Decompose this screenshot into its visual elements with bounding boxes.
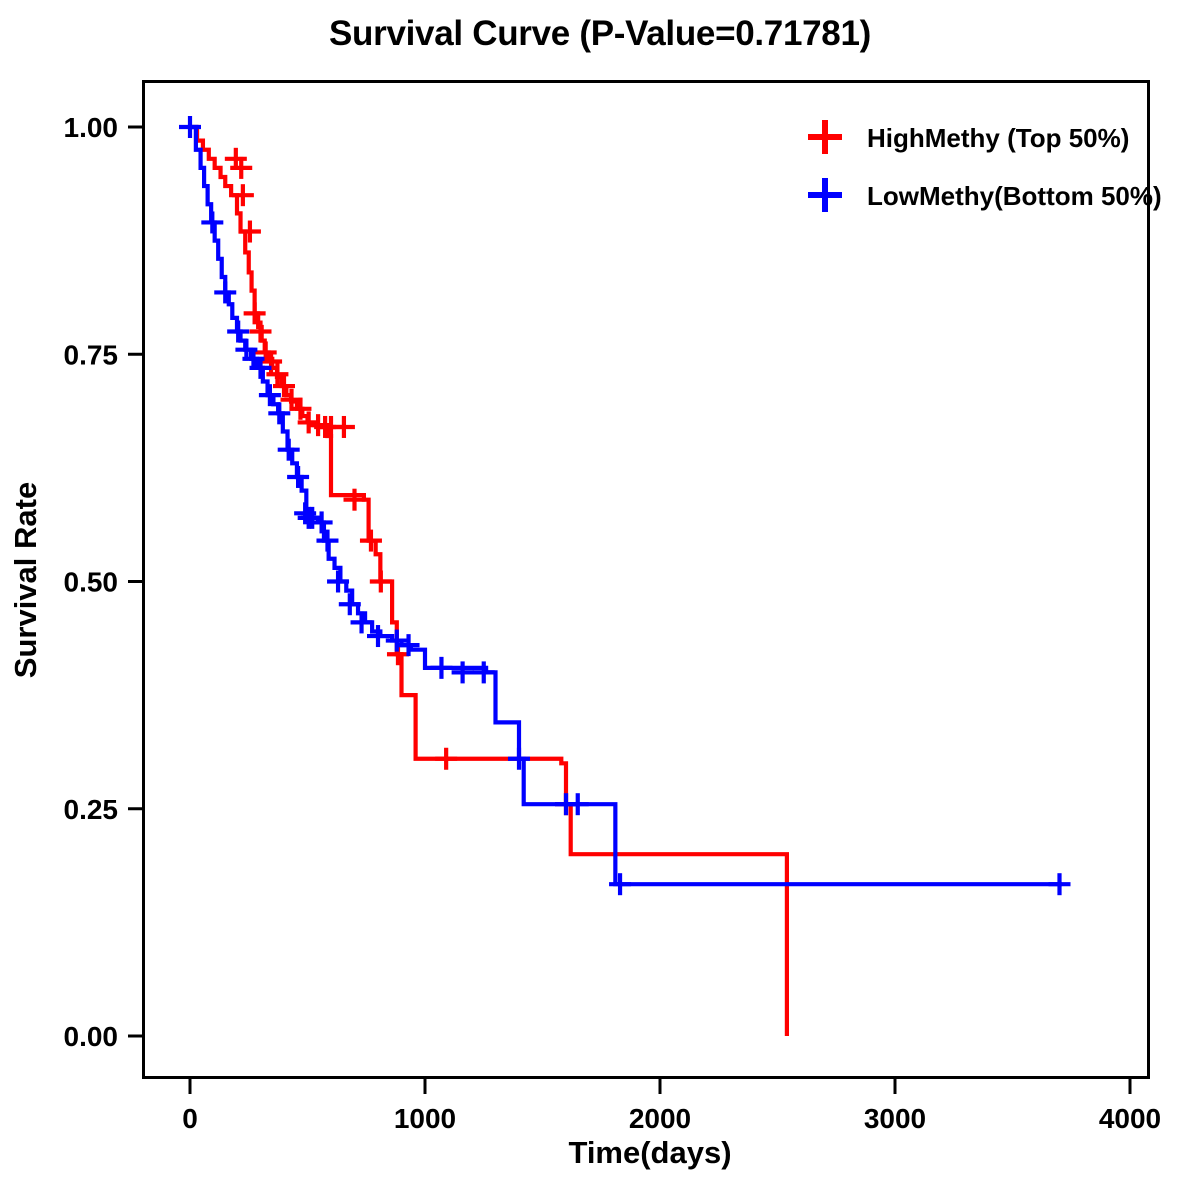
km-curve-low-methy	[190, 127, 1062, 884]
censor-marks-low-methy	[179, 116, 1071, 895]
y-tick-label: 1.00	[64, 112, 119, 143]
x-tick-label: 2000	[629, 1103, 691, 1134]
legend-label-1[interactable]: LowMethy(Bottom 50%)	[867, 181, 1162, 211]
x-tick-label: 3000	[864, 1103, 926, 1134]
x-axis-ticks: 01000200030004000	[182, 1078, 1161, 1134]
legend-label-0[interactable]: HighMethy (Top 50%)	[867, 123, 1129, 153]
x-tick-label: 1000	[394, 1103, 456, 1134]
plot-frame	[144, 82, 1149, 1078]
x-tick-label: 0	[182, 1103, 198, 1134]
survival-curve-plot: 0.000.250.500.751.00 01000200030004000 H…	[0, 0, 1200, 1200]
series-layer	[179, 116, 1071, 1036]
y-tick-label: 0.25	[64, 794, 119, 825]
x-axis-title: Time(days)	[568, 1135, 731, 1170]
chart-legend[interactable]: HighMethy (Top 50%)LowMethy(Bottom 50%)	[808, 120, 1162, 212]
y-axis-ticks: 0.000.250.500.751.00	[64, 112, 144, 1052]
x-tick-label: 4000	[1099, 1103, 1161, 1134]
y-tick-label: 0.00	[64, 1021, 119, 1052]
censor-marks-high-methy	[225, 148, 577, 815]
y-axis-title: Survival Rate	[8, 482, 43, 678]
chart-page: Survival Curve (P-Value=0.71781) 0.000.2…	[0, 0, 1200, 1200]
km-curve-high-methy	[190, 127, 787, 1036]
y-tick-label: 0.75	[64, 339, 119, 370]
y-tick-label: 0.50	[64, 567, 119, 598]
